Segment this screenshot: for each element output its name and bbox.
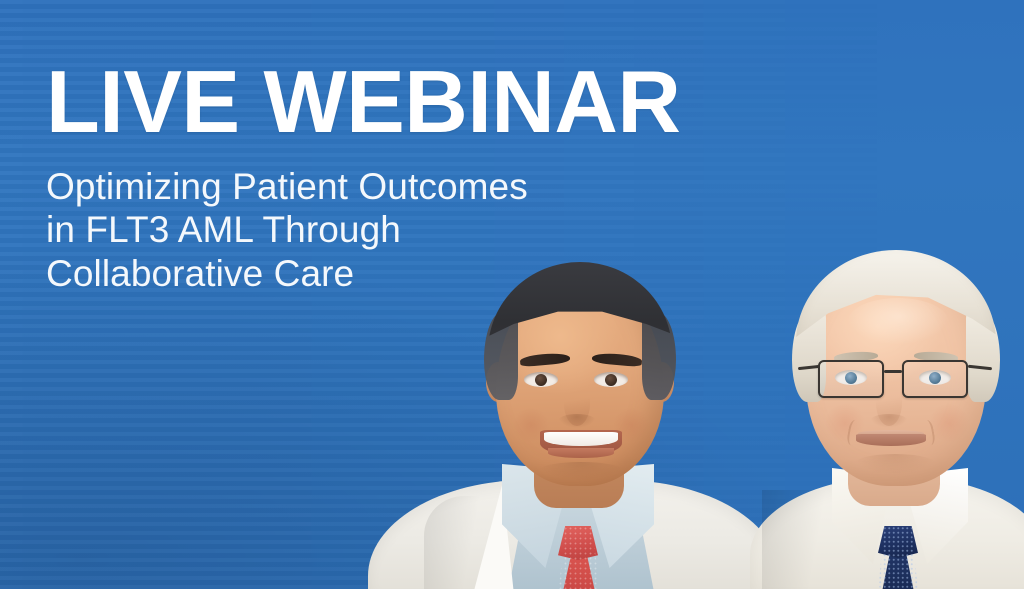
subtitle-line-2: in FLT3 AML Through bbox=[46, 208, 766, 251]
chin-shadow bbox=[854, 454, 936, 474]
teeth bbox=[544, 432, 618, 446]
subtitle-line-3: Collaborative Care bbox=[46, 252, 766, 295]
eye-left bbox=[524, 372, 558, 387]
banner-subtitle: Optimizing Patient Outcomes in FLT3 AML … bbox=[46, 165, 766, 295]
banner-text-block: LIVE WEBINAR Optimizing Patient Outcomes… bbox=[46, 62, 766, 295]
forehead-highlight bbox=[848, 298, 948, 344]
shirt-shadow bbox=[762, 490, 834, 589]
subtitle-line-1: Optimizing Patient Outcomes bbox=[46, 165, 766, 208]
eyeglasses-lens-right bbox=[902, 360, 968, 398]
nose-shadow bbox=[870, 414, 908, 428]
speaker-right-portrait bbox=[756, 248, 1024, 589]
speaker-left-portrait bbox=[372, 258, 776, 589]
mouth bbox=[856, 434, 926, 446]
eyeglasses-lens-left bbox=[818, 360, 884, 398]
eyeglasses-bridge bbox=[884, 370, 902, 373]
page-title: LIVE WEBINAR bbox=[46, 62, 766, 141]
nose-shadow bbox=[558, 414, 596, 428]
live-webinar-banner: LIVE WEBINAR Optimizing Patient Outcomes… bbox=[0, 0, 1024, 589]
lower-lip bbox=[548, 448, 614, 458]
necktie-pattern bbox=[878, 526, 918, 589]
chin-shadow bbox=[538, 462, 624, 480]
eye-right bbox=[594, 372, 628, 387]
